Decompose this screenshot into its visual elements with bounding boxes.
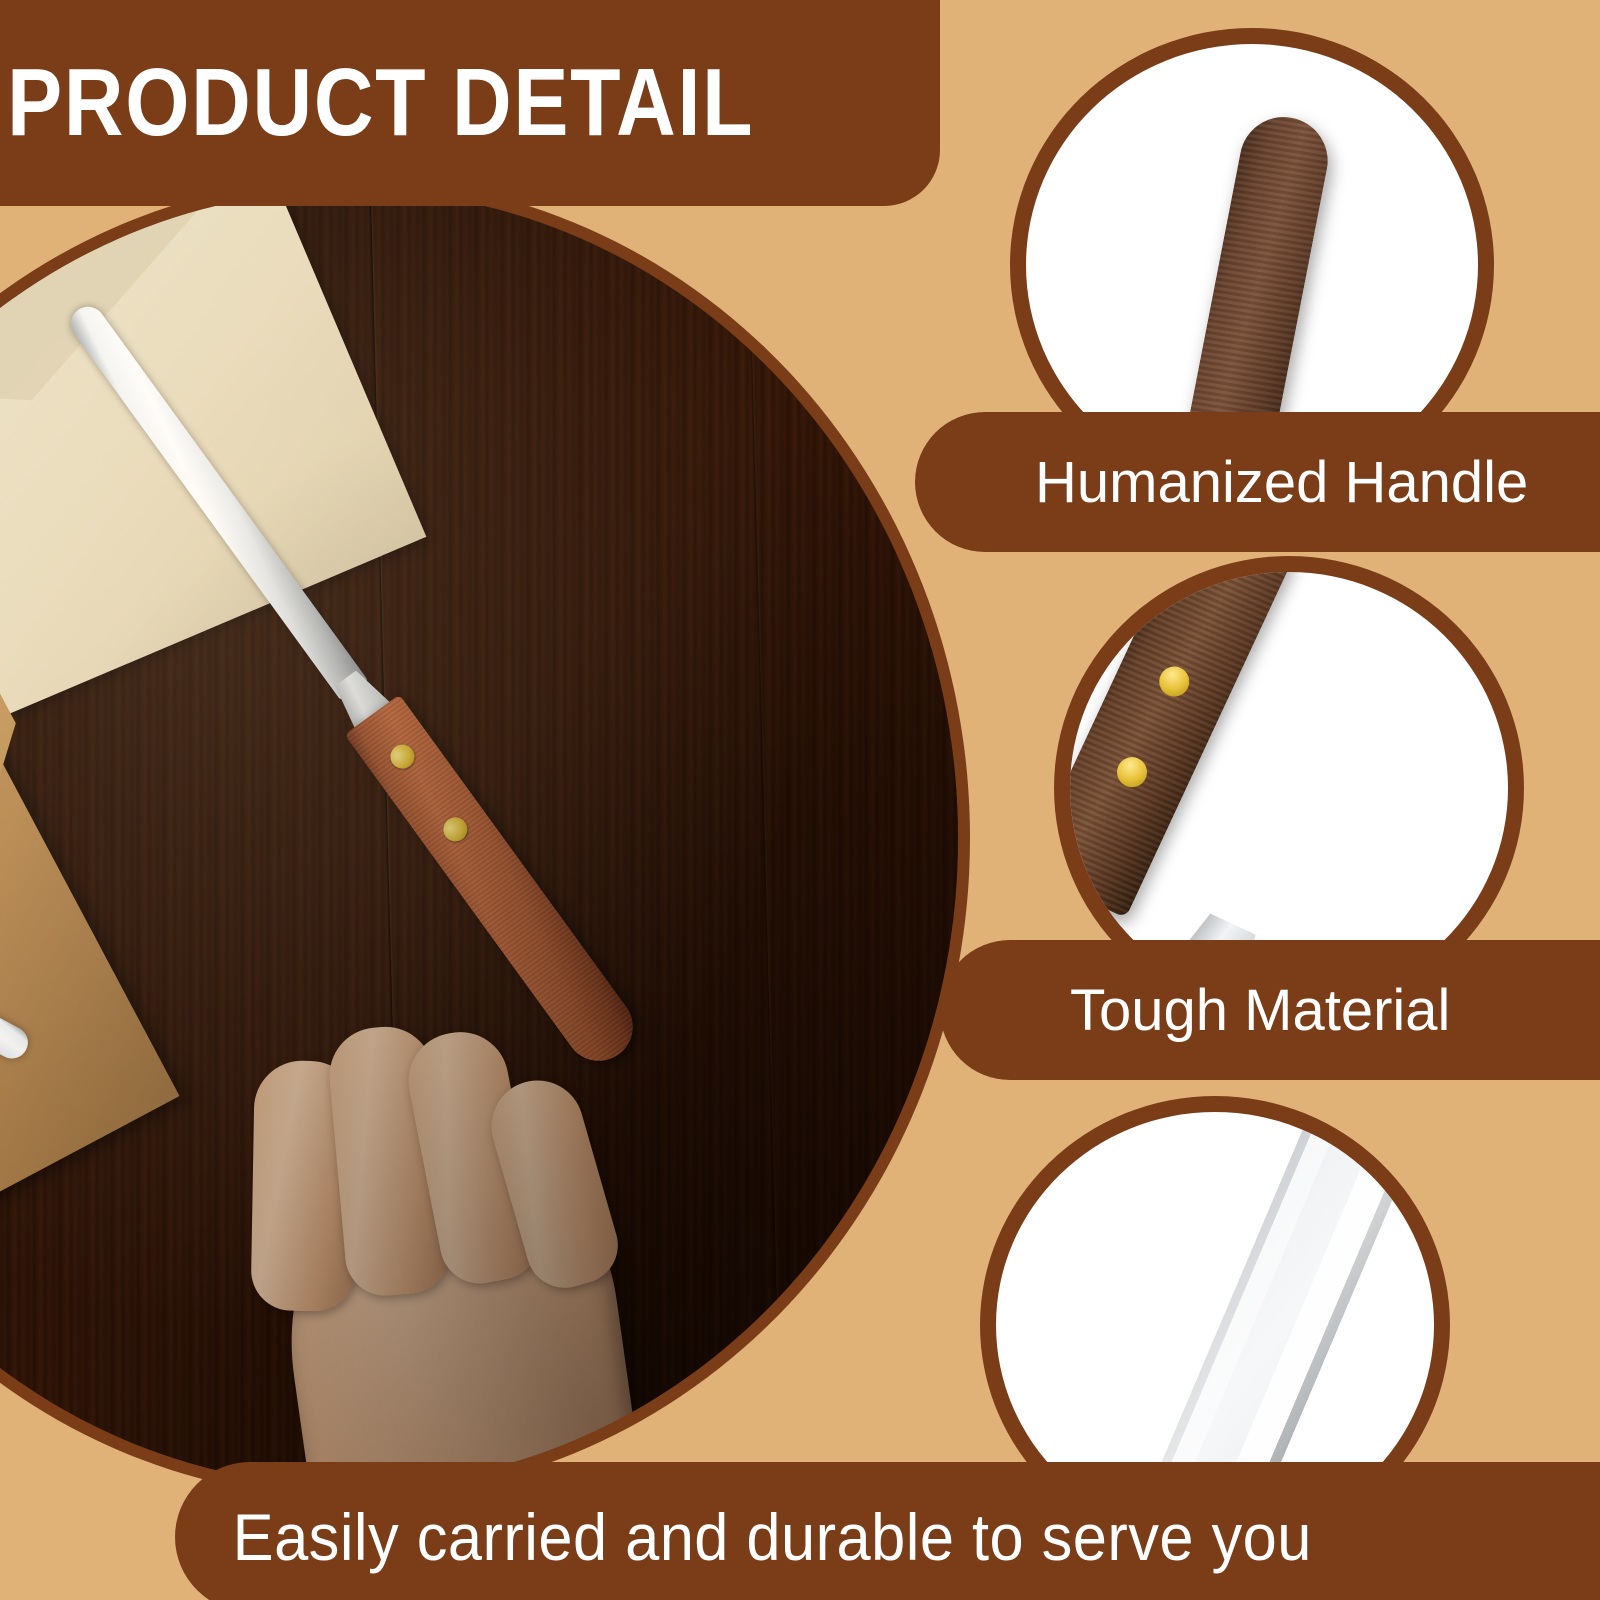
footer-caption-bar: Easily carried and durable to serve you	[175, 1462, 1600, 1600]
photo-vignette	[0, 190, 958, 1486]
feature-label-humanized-handle: Humanized Handle	[915, 412, 1600, 552]
wood-handle-closeup	[1070, 572, 1295, 918]
hero-photo-circle	[0, 190, 958, 1486]
feature-label-tough-material: Tough Material	[940, 940, 1600, 1080]
brass-rivet-icon	[1112, 752, 1152, 792]
brass-rivet-icon	[1154, 662, 1194, 702]
product-detail-poster: PRODUCT DETAIL Humanized Handle Tough Ma…	[0, 0, 1600, 1600]
footer-caption-text: Easily carried and durable to serve you	[175, 1499, 1312, 1575]
page-title: PRODUCT DETAIL	[0, 48, 754, 158]
feature-label-text: Humanized Handle	[915, 449, 1528, 516]
feature-label-text: Tough Material	[940, 977, 1450, 1044]
title-banner: PRODUCT DETAIL	[0, 0, 940, 206]
